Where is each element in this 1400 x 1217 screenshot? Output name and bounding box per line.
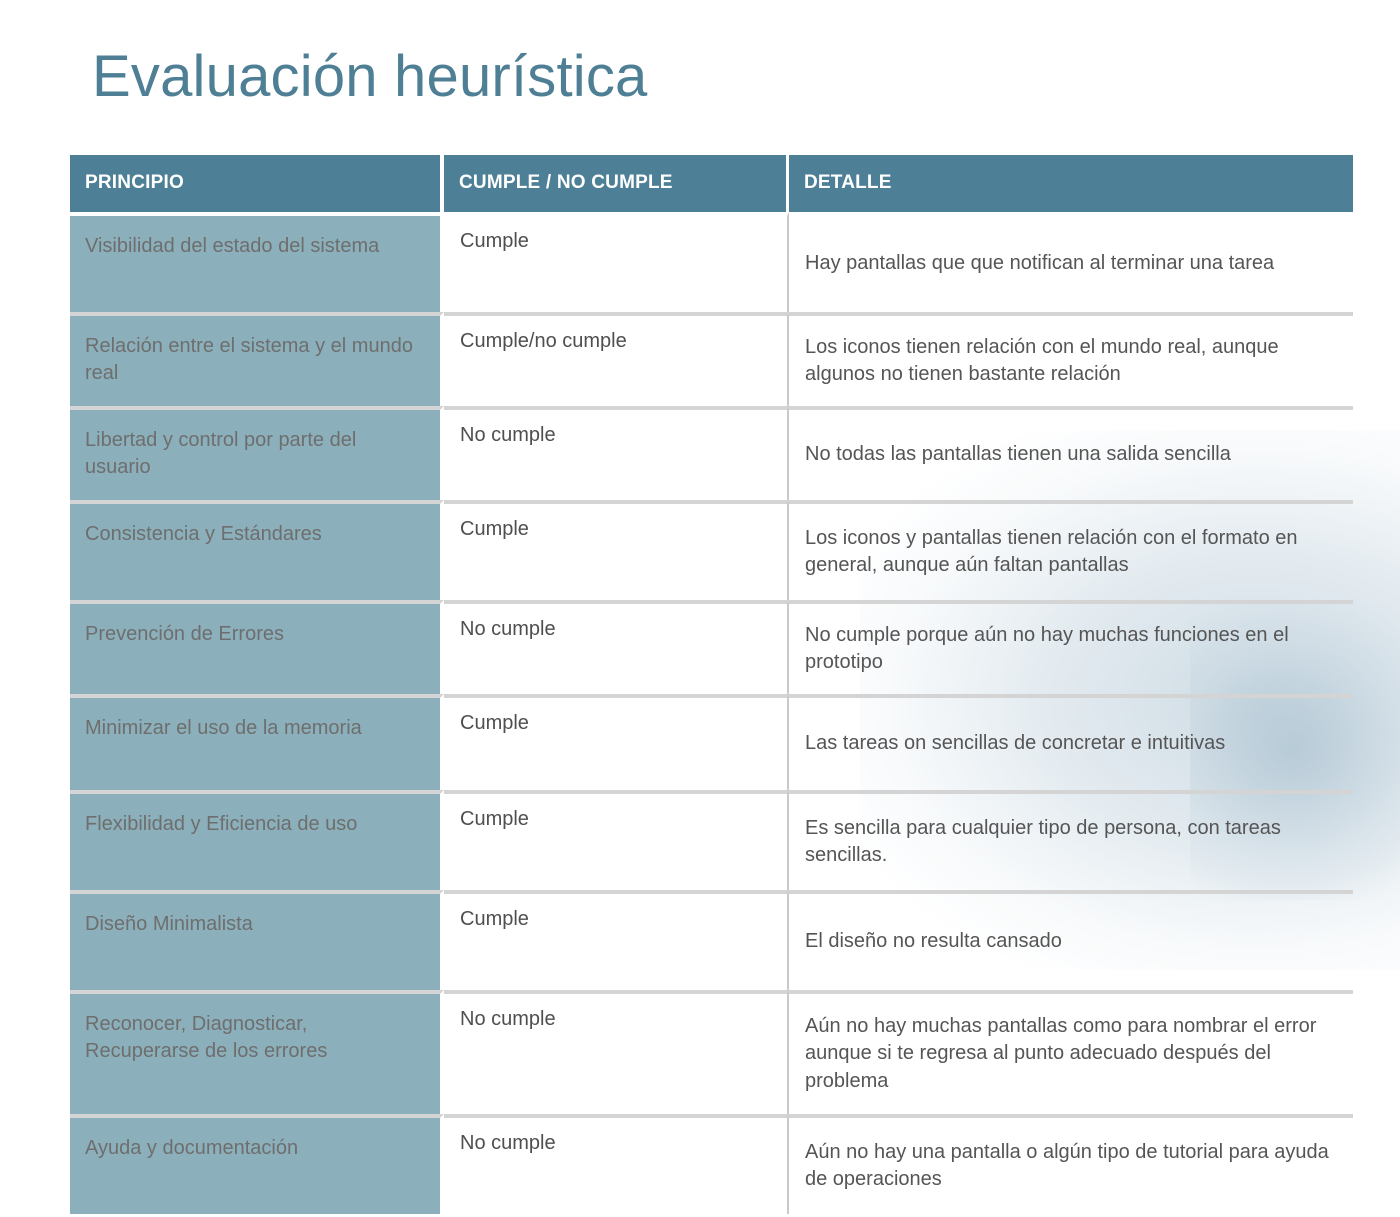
cell-principio: Minimizar el uso de la memoria bbox=[70, 694, 444, 790]
cell-detalle: Las tareas on sencillas de concretar e i… bbox=[789, 694, 1353, 790]
table-header: PRINCIPIO CUMPLE / NO CUMPLE DETALLE bbox=[70, 155, 1353, 212]
cell-detalle: El diseño no resulta cansado bbox=[789, 890, 1353, 990]
cell-cumple: Cumple bbox=[444, 890, 789, 990]
cell-detalle: No cumple porque aún no hay muchas funci… bbox=[789, 600, 1353, 694]
cell-principio: Flexibilidad y Eficiencia de uso bbox=[70, 790, 444, 890]
column-header-detalle: DETALLE bbox=[789, 155, 1353, 212]
cell-principio: Diseño Minimalista bbox=[70, 890, 444, 990]
cell-principio: Consistencia y Estándares bbox=[70, 500, 444, 600]
table-header-row: PRINCIPIO CUMPLE / NO CUMPLE DETALLE bbox=[70, 155, 1353, 212]
cell-detalle: Es sencilla para cualquier tipo de perso… bbox=[789, 790, 1353, 890]
table-row: Diseño Minimalista Cumple El diseño no r… bbox=[70, 890, 1353, 990]
page-title: Evaluación heurística bbox=[92, 47, 648, 108]
table-row: Prevención de Errores No cumple No cumpl… bbox=[70, 600, 1353, 694]
table-body: Visibilidad del estado del sistema Cumpl… bbox=[70, 212, 1353, 1214]
table-row: Relación entre el sistema y el mundo rea… bbox=[70, 312, 1353, 406]
cell-detalle: No todas las pantallas tienen una salida… bbox=[789, 406, 1353, 500]
cell-principio: Relación entre el sistema y el mundo rea… bbox=[70, 312, 444, 406]
cell-principio: Ayuda y documentación bbox=[70, 1114, 444, 1214]
column-header-principio: PRINCIPIO bbox=[70, 155, 444, 212]
cell-cumple: Cumple bbox=[444, 212, 789, 312]
cell-principio: Reconocer, Diagnosticar, Recuperarse de … bbox=[70, 990, 444, 1114]
cell-principio: Libertad y control por parte del usuario bbox=[70, 406, 444, 500]
cell-detalle: Los iconos y pantallas tienen relación c… bbox=[789, 500, 1353, 600]
heuristic-evaluation-table-container: PRINCIPIO CUMPLE / NO CUMPLE DETALLE Vis… bbox=[70, 155, 1353, 1214]
cell-cumple: No cumple bbox=[444, 600, 789, 694]
cell-cumple: No cumple bbox=[444, 406, 789, 500]
column-header-cumple: CUMPLE / NO CUMPLE bbox=[444, 155, 789, 212]
cell-cumple: No cumple bbox=[444, 1114, 789, 1214]
table-row: Ayuda y documentación No cumple Aún no h… bbox=[70, 1114, 1353, 1214]
table-row: Reconocer, Diagnosticar, Recuperarse de … bbox=[70, 990, 1353, 1114]
cell-cumple: Cumple/no cumple bbox=[444, 312, 789, 406]
cell-detalle: Hay pantallas que que notifican al termi… bbox=[789, 212, 1353, 312]
table-row: Consistencia y Estándares Cumple Los ico… bbox=[70, 500, 1353, 600]
cell-principio: Visibilidad del estado del sistema bbox=[70, 212, 444, 312]
cell-principio: Prevención de Errores bbox=[70, 600, 444, 694]
cell-detalle: Aún no hay una pantalla o algún tipo de … bbox=[789, 1114, 1353, 1214]
cell-detalle: Aún no hay muchas pantallas como para no… bbox=[789, 990, 1353, 1114]
cell-detalle: Los iconos tienen relación con el mundo … bbox=[789, 312, 1353, 406]
table-row: Visibilidad del estado del sistema Cumpl… bbox=[70, 212, 1353, 312]
heuristic-evaluation-table: PRINCIPIO CUMPLE / NO CUMPLE DETALLE Vis… bbox=[70, 155, 1353, 1214]
table-row: Minimizar el uso de la memoria Cumple La… bbox=[70, 694, 1353, 790]
table-row: Libertad y control por parte del usuario… bbox=[70, 406, 1353, 500]
cell-cumple: Cumple bbox=[444, 500, 789, 600]
cell-cumple: No cumple bbox=[444, 990, 789, 1114]
slide-canvas: Evaluación heurística PRINCIPIO CUMPLE /… bbox=[0, 0, 1400, 1217]
cell-cumple: Cumple bbox=[444, 694, 789, 790]
cell-cumple: Cumple bbox=[444, 790, 789, 890]
table-row: Flexibilidad y Eficiencia de uso Cumple … bbox=[70, 790, 1353, 890]
